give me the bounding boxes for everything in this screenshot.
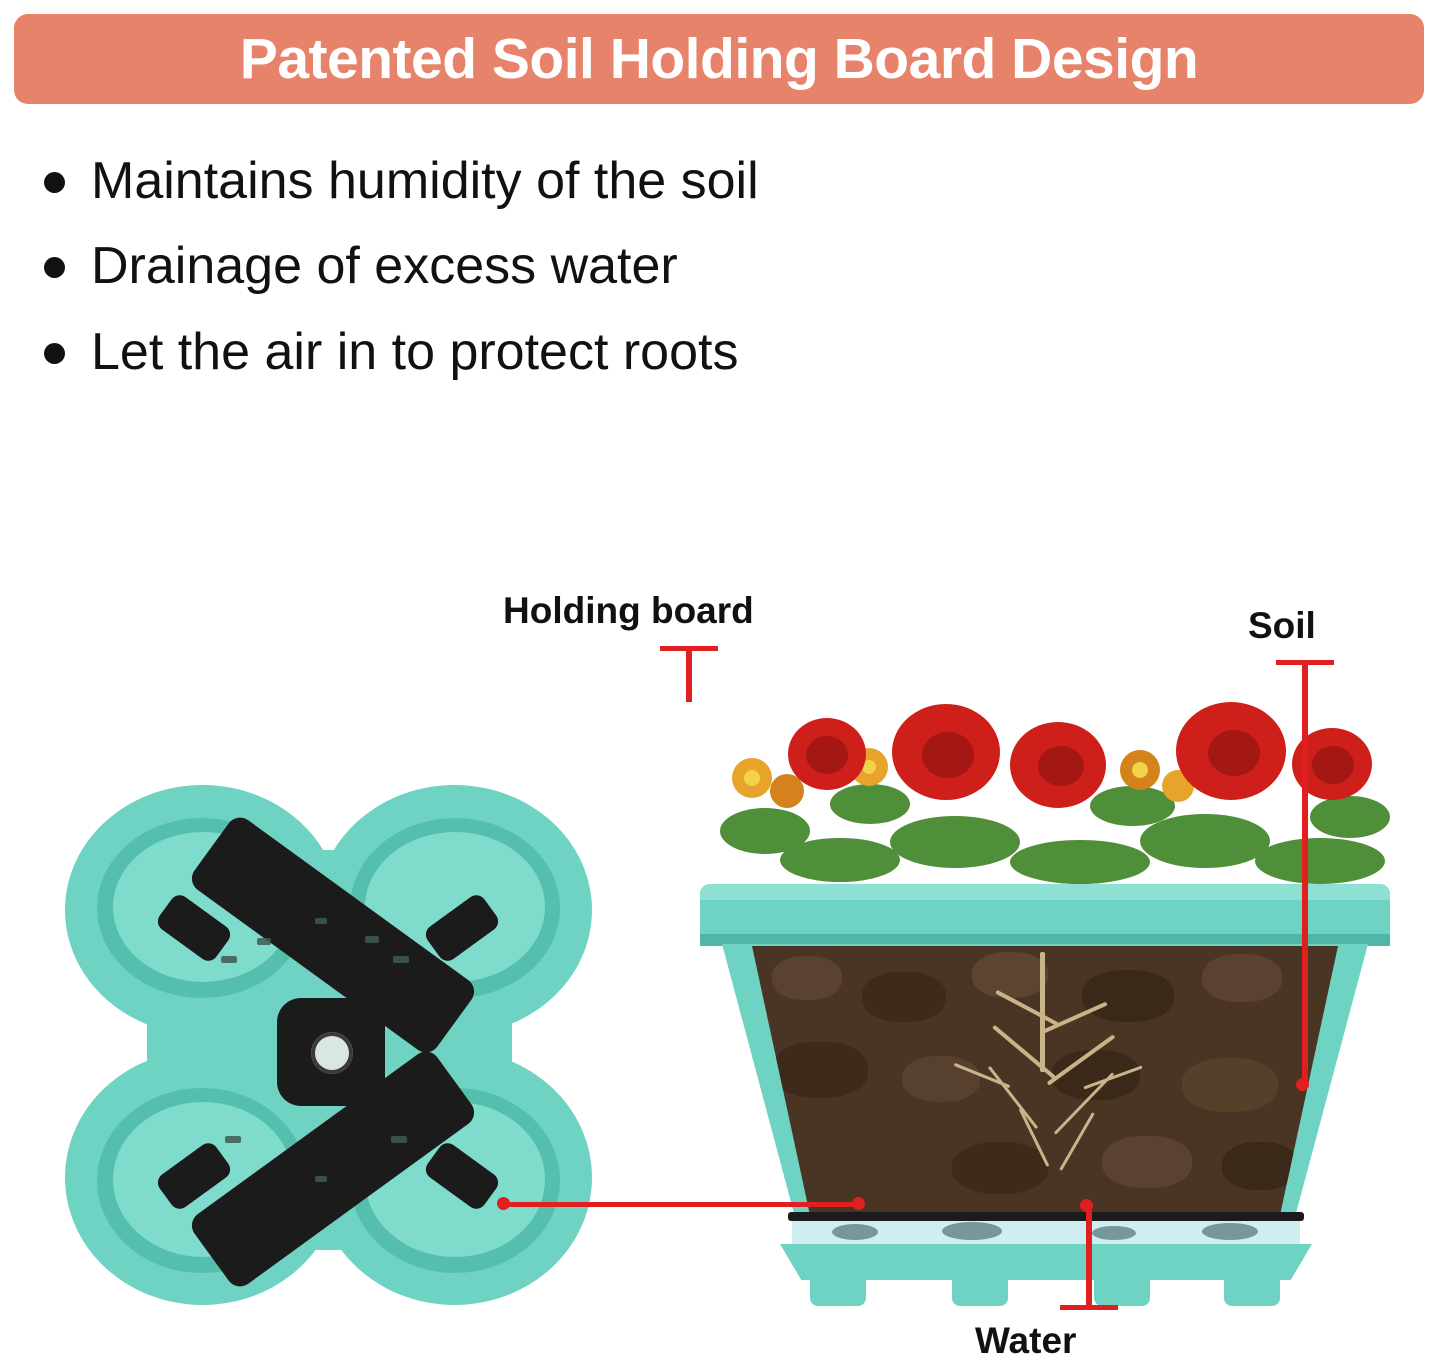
water-droplet — [1202, 1223, 1258, 1240]
root — [992, 1025, 1056, 1079]
bullet-dot-icon — [44, 172, 65, 193]
leader-line-soil — [1302, 660, 1308, 1084]
pot-base — [780, 1244, 1312, 1280]
pot-foot — [1224, 1276, 1280, 1306]
leaf — [1010, 840, 1150, 884]
board-vent-slot — [221, 956, 237, 963]
leaf — [890, 816, 1020, 868]
label-holding-board: Holding board — [503, 590, 754, 632]
pot-foot — [810, 1276, 866, 1306]
leader-line-holding-board-horizontal — [503, 1202, 863, 1207]
list-item: Let the air in to protect roots — [44, 321, 1144, 384]
bullet-text: Maintains humidity of the soil — [91, 150, 759, 213]
leaf — [1140, 814, 1270, 868]
board-pad — [422, 1139, 502, 1213]
bullet-dot-icon — [44, 257, 65, 278]
leaf — [830, 784, 910, 824]
root — [1040, 952, 1045, 1072]
soil-clod — [1182, 1058, 1278, 1112]
leaf — [1255, 838, 1385, 884]
pot-top-view-illustration — [55, 750, 600, 1350]
soil-clod — [952, 1142, 1048, 1194]
soil-clod — [812, 1132, 900, 1184]
soil-clod — [1102, 1136, 1192, 1188]
label-water: Water — [975, 1320, 1076, 1362]
product-diagram: Holding board Soil Water — [0, 520, 1438, 1369]
leaf — [1310, 796, 1390, 838]
soil-clod — [772, 1042, 868, 1098]
label-soil: Soil — [1248, 605, 1316, 647]
leader-dot-holding-board-left — [497, 1197, 510, 1210]
holding-board-top-view — [165, 898, 495, 1208]
pot-rim-highlight — [700, 884, 1390, 900]
board-pad — [422, 891, 502, 965]
soil-clod — [1202, 954, 1282, 1002]
pot-foot — [952, 1276, 1008, 1306]
soil-clod — [1222, 1142, 1298, 1190]
flower-red-core — [1208, 730, 1260, 776]
board-vent-slot — [315, 1176, 327, 1182]
board-vent-slot — [257, 938, 271, 945]
root — [988, 1066, 1038, 1129]
page-title: Patented Soil Holding Board Design — [240, 31, 1198, 88]
board-vent-slot — [391, 1136, 407, 1143]
pot-cross-section-illustration — [700, 688, 1390, 1308]
leader-line-water-cap — [1060, 1305, 1118, 1310]
board-vent-slot — [315, 918, 327, 924]
water-layer — [792, 1218, 1300, 1248]
bullet-text: Let the air in to protect roots — [91, 321, 738, 384]
soil-clod — [772, 956, 842, 1000]
leader-dot-soil — [1296, 1078, 1309, 1091]
list-item: Maintains humidity of the soil — [44, 150, 1144, 213]
pot-foot — [1094, 1276, 1150, 1306]
leaf — [780, 838, 900, 882]
board-center-hole — [311, 1032, 353, 1074]
bullet-dot-icon — [44, 343, 65, 364]
leader-line-water — [1086, 1205, 1092, 1310]
soil-clod — [972, 952, 1048, 998]
water-droplet — [1092, 1226, 1136, 1240]
leader-dot-water — [1080, 1199, 1093, 1212]
leader-dot-holding-board-right — [852, 1197, 865, 1210]
bullet-text: Drainage of excess water — [91, 235, 678, 298]
flower-red-core — [922, 732, 974, 778]
flower-red-core — [1038, 746, 1084, 786]
board-vent-slot — [393, 956, 409, 963]
board-vent-slot — [225, 1136, 241, 1143]
flower-center — [1132, 762, 1148, 778]
water-droplet — [942, 1222, 1002, 1240]
soil-region — [752, 946, 1338, 1218]
soil-clod — [902, 1056, 980, 1102]
list-item: Drainage of excess water — [44, 235, 1144, 298]
flower-cluster — [710, 688, 1390, 888]
leader-line-holding-board-vertical — [686, 646, 692, 702]
board-vent-slot — [365, 936, 379, 943]
holding-board-cross-section — [788, 1212, 1304, 1221]
feature-bullet-list: Maintains humidity of the soil Drainage … — [44, 150, 1144, 406]
flower-red-core — [806, 736, 848, 774]
soil-clod — [1082, 970, 1174, 1022]
water-droplet — [832, 1224, 878, 1240]
flower-center — [744, 770, 760, 786]
flower-red-core — [1312, 746, 1354, 784]
soil-clod — [862, 972, 946, 1022]
header-banner: Patented Soil Holding Board Design — [14, 14, 1424, 104]
